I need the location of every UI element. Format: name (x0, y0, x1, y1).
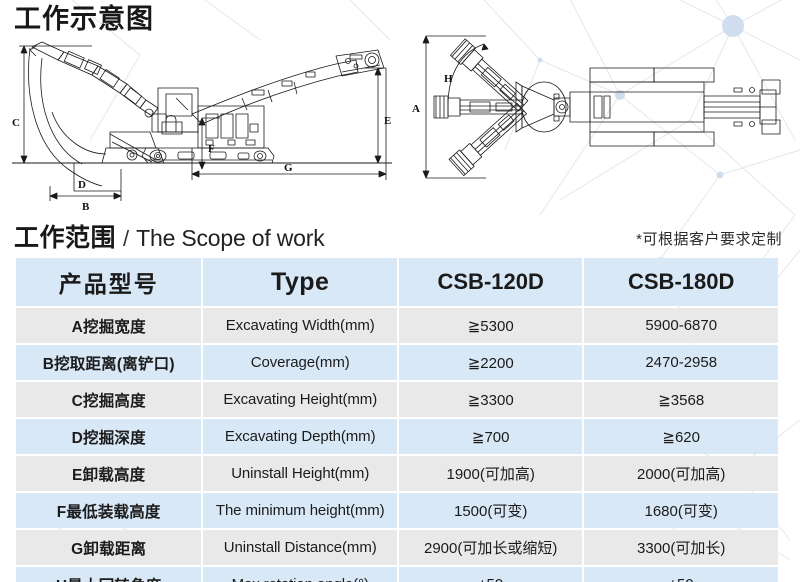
cell-csb-120d: 1900(可加高) (399, 456, 582, 491)
dimension-label-c: C (12, 117, 20, 129)
cell-csb-180d: 5900-6870 (584, 308, 778, 343)
table-row: H最大回转角度Max.rotation angle(°)±50±50 (16, 567, 778, 582)
cell-type: Coverage(mm) (203, 345, 397, 380)
page-title-diagram: 工作示意图 (14, 6, 154, 33)
cell-type: Excavating Height(mm) (203, 382, 397, 417)
cell-model: A挖掘宽度 (16, 308, 201, 343)
table-row: D挖掘深度Excavating Depth(mm)≧700≧620 (16, 419, 778, 454)
cell-csb-120d: ≧3300 (399, 382, 582, 417)
cell-type: Uninstall Height(mm) (203, 456, 397, 491)
cell-model: H最大回转角度 (16, 567, 201, 582)
table-body: A挖掘宽度Excavating Width(mm)≧53005900-6870B… (16, 308, 778, 582)
table-row: A挖掘宽度Excavating Width(mm)≧53005900-6870 (16, 308, 778, 343)
dimension-label-a: A (412, 103, 420, 115)
header-model: 产品型号 (16, 258, 201, 306)
cell-type: The minimum height(mm) (203, 493, 397, 528)
cell-csb-180d: 1680(可变) (584, 493, 778, 528)
cell-csb-120d: ≧2200 (399, 345, 582, 380)
top-view-excavator-drawing: A H (404, 28, 794, 198)
table-row: E卸载高度Uninstall Height(mm)1900(可加高)2000(可… (16, 456, 778, 491)
cell-model: B挖取距离(离铲口) (16, 345, 201, 380)
table-row: G卸载距离Uninstall Distance(mm)2900(可加长或缩短)3… (16, 530, 778, 565)
dimension-label-f: F (208, 143, 215, 155)
cell-model: E卸载高度 (16, 456, 201, 491)
cell-csb-180d: ±50 (584, 567, 778, 582)
header-csb-180d: CSB-180D (584, 258, 778, 306)
cell-csb-180d: 2000(可加高) (584, 456, 778, 491)
cell-csb-120d: ±50 (399, 567, 582, 582)
scope-title-chinese: 工作范围 (14, 218, 116, 254)
cell-type: Max.rotation angle(°) (203, 567, 397, 582)
header-type: Type (203, 258, 397, 306)
cell-type: Uninstall Distance(mm) (203, 530, 397, 565)
dimension-label-h: H (444, 73, 453, 85)
cell-model: C挖掘高度 (16, 382, 201, 417)
cell-csb-180d: ≧620 (584, 419, 778, 454)
cell-csb-180d: ≧3568 (584, 382, 778, 417)
cell-model: D挖掘深度 (16, 419, 201, 454)
scope-title-english: The Scope of work (136, 225, 324, 252)
dimension-label-e: E (384, 115, 391, 127)
cell-type: Excavating Depth(mm) (203, 419, 397, 454)
table-header-row: 产品型号 Type CSB-120D CSB-180D (16, 258, 778, 306)
cell-model: F最低装载高度 (16, 493, 201, 528)
cell-csb-120d: 2900(可加长或缩短) (399, 530, 582, 565)
header-csb-120d: CSB-120D (399, 258, 582, 306)
dimension-label-g: G (284, 162, 293, 174)
customization-note: *可根据客户要求定制 (636, 228, 782, 249)
cell-type: Excavating Width(mm) (203, 308, 397, 343)
dimension-label-d: D (78, 179, 86, 191)
section-title-scope: 工作范围 / The Scope of work (14, 218, 325, 254)
cell-csb-180d: 3300(可加长) (584, 530, 778, 565)
spec-sheet-page: 工作示意图 (0, 0, 800, 582)
cell-model: G卸载距离 (16, 530, 201, 565)
cell-csb-120d: ≧5300 (399, 308, 582, 343)
cell-csb-120d: ≧700 (399, 419, 582, 454)
table-row: B挖取距离(离铲口)Coverage(mm)≧22002470-2958 (16, 345, 778, 380)
table-row: F最低装载高度The minimum height(mm)1500(可变)168… (16, 493, 778, 528)
scope-title-separator: / (123, 226, 129, 252)
specification-table: 产品型号 Type CSB-120D CSB-180D A挖掘宽度Excavat… (14, 256, 780, 582)
table-row: C挖掘高度Excavating Height(mm)≧3300≧3568 (16, 382, 778, 417)
cell-csb-180d: 2470-2958 (584, 345, 778, 380)
cell-csb-120d: 1500(可变) (399, 493, 582, 528)
side-view-excavator-drawing: C D B F G E (6, 36, 398, 211)
dimension-label-b: B (82, 201, 90, 211)
